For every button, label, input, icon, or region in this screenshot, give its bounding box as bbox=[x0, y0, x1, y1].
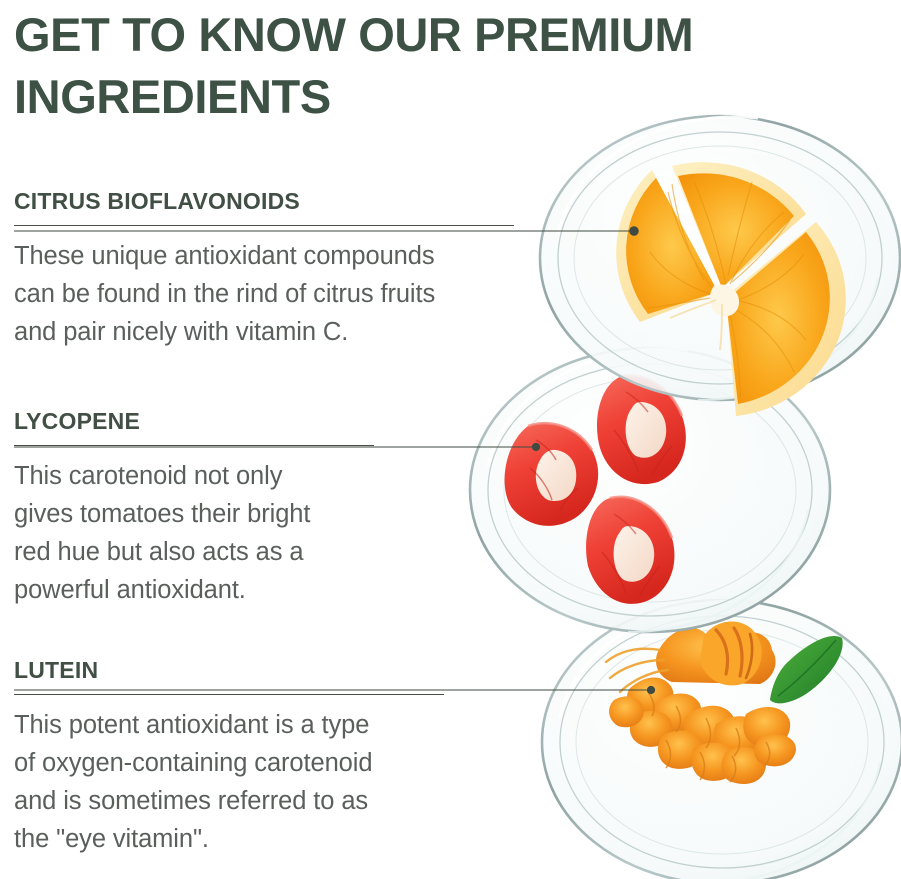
heading-rule-citrus bbox=[14, 225, 514, 226]
ingredient-block-citrus-bioflavonoids: CITRUS BIOFLAVONOIDS These unique antiox… bbox=[14, 188, 514, 351]
ingredient-heading-citrus: CITRUS BIOFLAVONOIDS bbox=[14, 188, 514, 215]
marigold-dish-group bbox=[542, 600, 901, 879]
ingredient-body-lycopene: This carotenoid not only gives tomatoes … bbox=[14, 457, 374, 609]
infographic-root: GET TO KNOW OUR PREMIUM INGREDIENTS CITR… bbox=[0, 0, 901, 879]
ingredient-heading-lutein: LUTEIN bbox=[14, 657, 444, 684]
ingredient-block-lutein: LUTEIN This potent antioxidant is a type… bbox=[14, 657, 444, 858]
ingredient-block-lycopene: LYCOPENE This carotenoid not only gives … bbox=[14, 408, 374, 609]
ingredient-body-citrus: These unique antioxidant compounds can b… bbox=[14, 237, 514, 351]
page-title: GET TO KNOW OUR PREMIUM INGREDIENTS bbox=[14, 4, 874, 128]
ingredient-heading-lycopene: LYCOPENE bbox=[14, 408, 374, 435]
heading-rule-lycopene bbox=[14, 445, 374, 446]
ingredient-body-lutein: This potent antioxidant is a type of oxy… bbox=[14, 706, 444, 858]
heading-rule-lutein bbox=[14, 694, 444, 695]
